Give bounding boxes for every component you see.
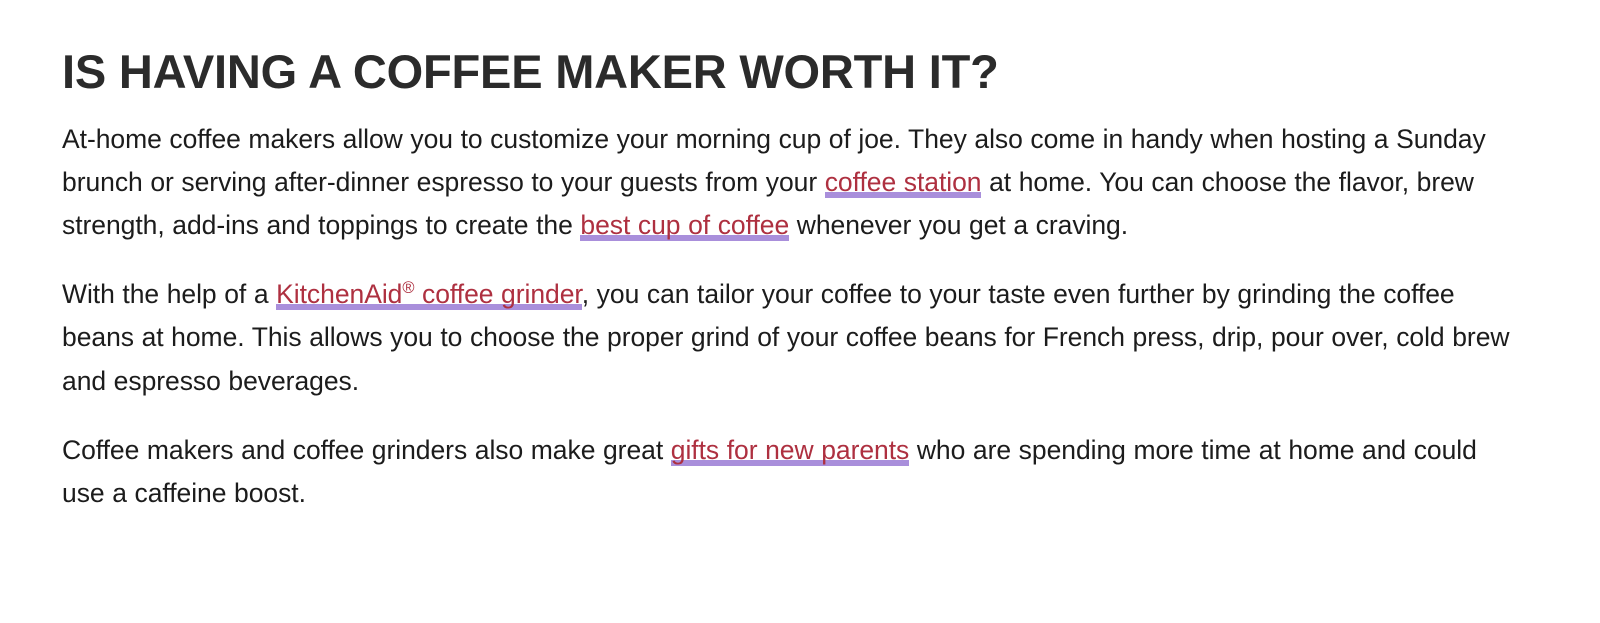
paragraph-1: At-home coffee makers allow you to custo… <box>62 118 1522 248</box>
link-kitchenaid-coffee-grinder[interactable]: KitchenAid® coffee grinder <box>276 279 582 311</box>
article-content: IS HAVING A COFFEE MAKER WORTH IT? At-ho… <box>0 0 1600 515</box>
paragraph-1-text-after-link-2: whenever you get a craving. <box>789 210 1128 240</box>
paragraph-3: Coffee makers and coffee grinders also m… <box>62 429 1522 515</box>
link-best-cup-of-coffee[interactable]: best cup of coffee <box>580 210 789 242</box>
link-brand-name: KitchenAid <box>276 279 402 309</box>
paragraph-3-text-before-link: Coffee makers and coffee grinders also m… <box>62 435 671 465</box>
paragraph-2-text-before-link: With the help of a <box>62 279 276 309</box>
registered-trademark-icon: ® <box>402 279 414 297</box>
paragraph-2: With the help of a KitchenAid® coffee gr… <box>62 273 1522 403</box>
link-coffee-station[interactable]: coffee station <box>825 167 982 199</box>
link-gifts-for-new-parents[interactable]: gifts for new parents <box>671 435 909 467</box>
link-product-name: coffee grinder <box>414 279 581 309</box>
page-title: IS HAVING A COFFEE MAKER WORTH IT? <box>62 46 1538 99</box>
